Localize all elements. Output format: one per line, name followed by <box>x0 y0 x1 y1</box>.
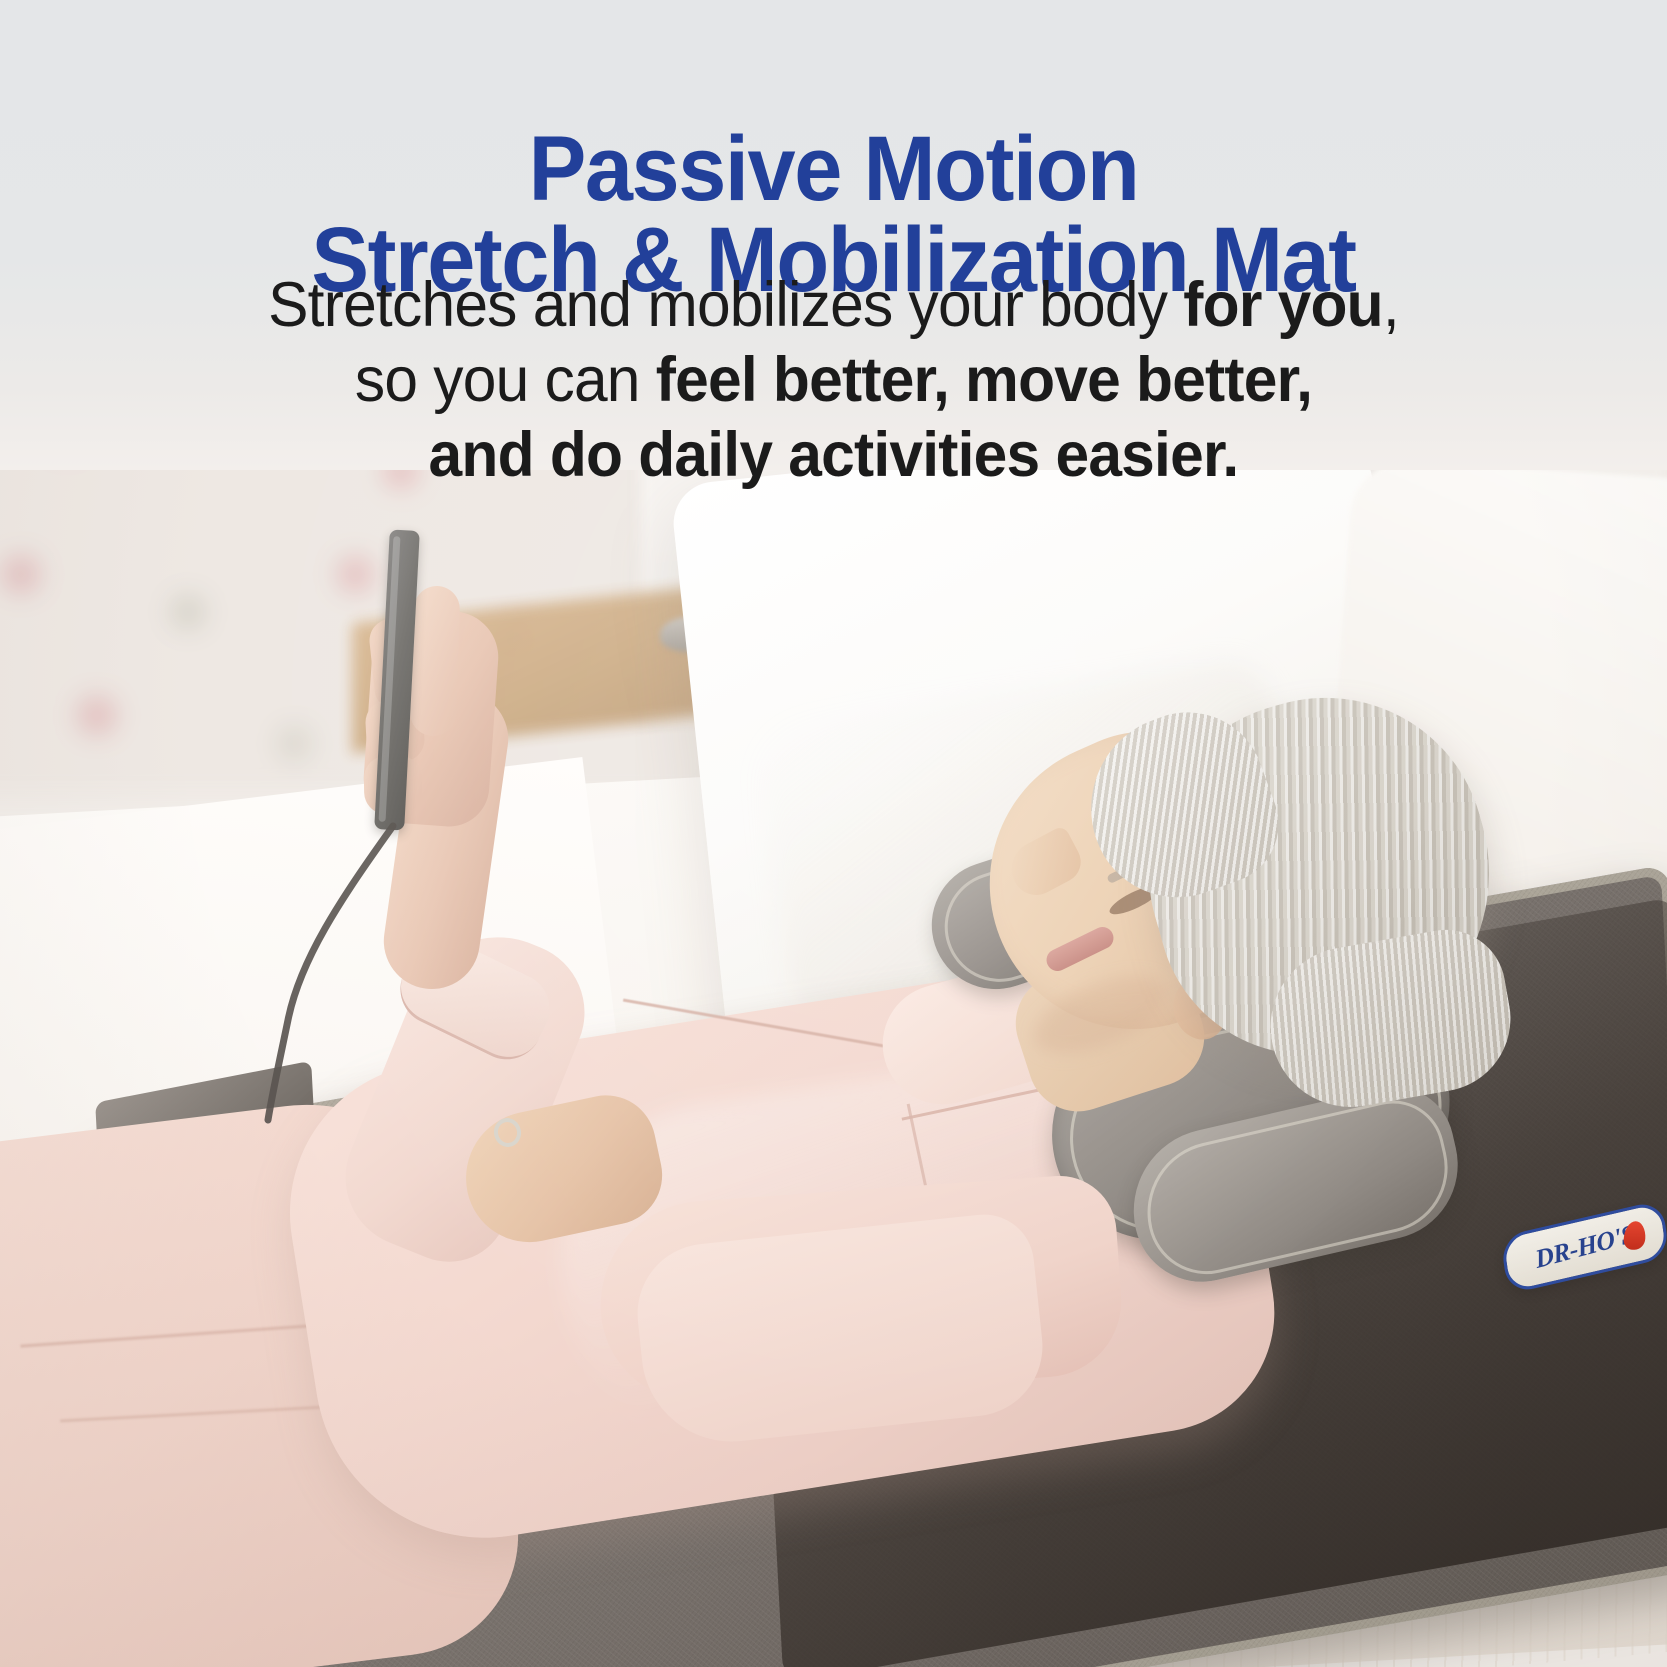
subtitle-line-2-regular: so you can <box>355 345 656 415</box>
resting-sleeve <box>631 1210 1050 1451</box>
page-subtitle: Stretches and mobilizes your body for yo… <box>33 268 1633 493</box>
thumb <box>409 585 460 737</box>
subtitle-line-2-bold: feel better, move better, <box>656 345 1312 415</box>
subtitle-line-1-comma: , <box>1383 270 1399 340</box>
product-promo-poster: DR-HO'S Passive Motio <box>0 0 1667 1667</box>
dr-hos-logo-text: DR-HO'S <box>1533 1219 1637 1275</box>
headline-line-1: Passive Motion <box>50 124 1617 215</box>
subtitle-line-1-bold: for you <box>1183 270 1383 340</box>
subtitle-line-1: Stretches and mobilizes your body for yo… <box>33 268 1633 343</box>
subtitle-line-2: so you can feel better, move better, <box>33 343 1633 418</box>
subtitle-line-3: and do daily activities easier. <box>33 418 1633 493</box>
subtitle-line-1-regular: Stretches and mobilizes your body <box>268 270 1183 340</box>
subtitle-line-3-bold: and do daily activities easier. <box>429 420 1239 490</box>
